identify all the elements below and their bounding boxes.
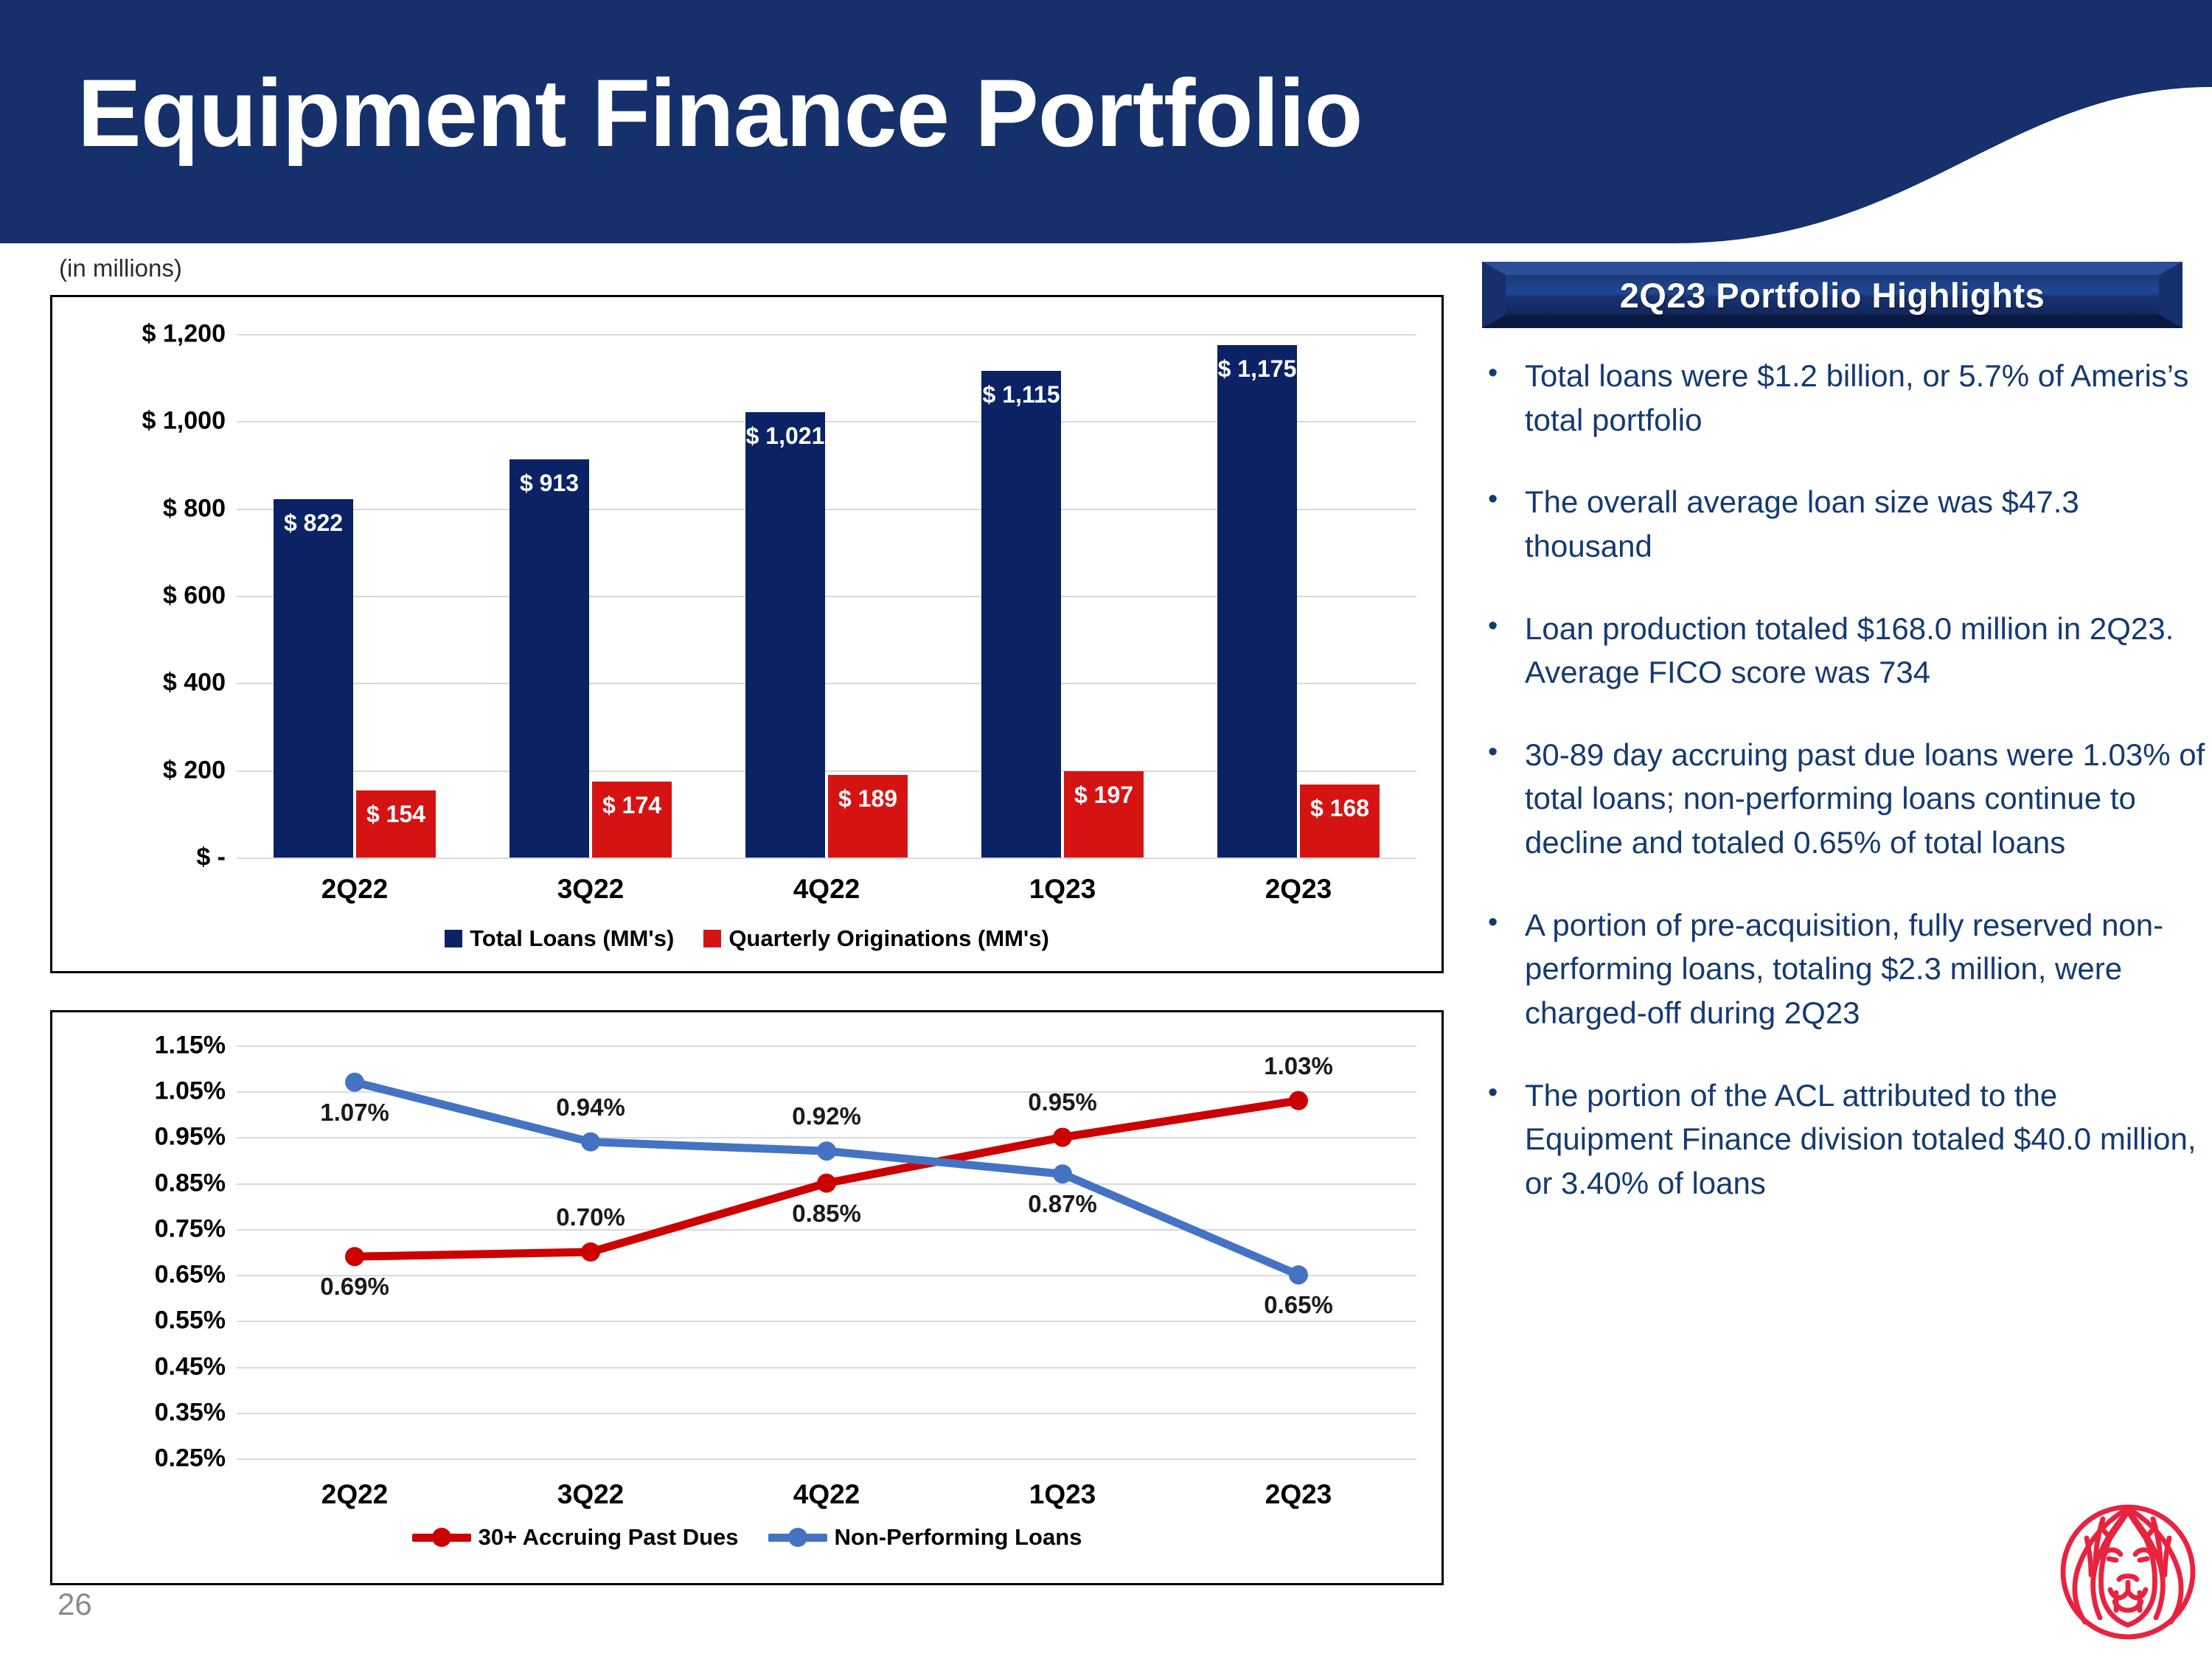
bar-value-label: $ 1,021 — [745, 422, 825, 450]
bullet-dot-icon: • — [1482, 1074, 1525, 1206]
page-number: 26 — [58, 1587, 92, 1622]
line-data-point — [345, 1247, 364, 1266]
line-chart: 0.25%0.35%0.45%0.55%0.65%0.75%0.85%0.95%… — [50, 1010, 1444, 1585]
bar-value-label: $ 174 — [592, 792, 672, 819]
line-chart-x-tick-label: 1Q23 — [1029, 1479, 1096, 1510]
slide-root: Equipment Finance Portfolio (in millions… — [0, 0, 2212, 1659]
bar-group: $ 1,175$ 1682Q23 — [1180, 334, 1416, 858]
bar-chart-y-tick-label: $ 200 — [0, 756, 226, 785]
highlight-bullet: •Total loans were $1.2 billion, or 5.7% … — [1482, 354, 2212, 442]
line-chart-y-tick-label: 1.15% — [0, 1032, 226, 1060]
bar-chart-legend: Total Loans (MM's)Quarterly Originations… — [52, 925, 1441, 952]
bar-quarterly-originations: $ 168 — [1300, 785, 1380, 858]
line-point-value-label: 0.94% — [556, 1093, 625, 1121]
bar-chart-y-tick-label: $ 800 — [0, 494, 226, 523]
line-point-value-label: 0.65% — [1264, 1291, 1333, 1319]
legend-swatch-icon — [445, 930, 462, 947]
bar-quarterly-originations: $ 154 — [356, 790, 436, 858]
bar-group: $ 1,115$ 1971Q23 — [945, 334, 1180, 858]
line-chart-y-tick-label: 0.35% — [0, 1398, 226, 1427]
bar-total-loans: $ 1,115 — [981, 371, 1061, 858]
bullet-dot-icon: • — [1482, 733, 1525, 865]
legend-label: Non-Performing Loans — [835, 1524, 1082, 1551]
line-chart-y-tick-label: 0.45% — [0, 1352, 226, 1381]
line-point-value-label: 0.87% — [1028, 1190, 1097, 1218]
line-data-point — [1053, 1127, 1072, 1147]
bar-value-label: $ 197 — [1064, 782, 1144, 809]
bar-chart-x-tick-label: 2Q22 — [237, 874, 473, 905]
line-point-value-label: 0.85% — [792, 1200, 861, 1228]
legend-label: Total Loans (MM's) — [470, 925, 674, 952]
bar-chart-y-tick-label: $ - — [0, 844, 226, 872]
bar-total-loans: $ 1,021 — [745, 412, 825, 858]
bar-chart: $ -$ 200$ 400$ 600$ 800$ 1,000$ 1,200$ 8… — [50, 295, 1444, 973]
bar-value-label: $ 1,175 — [1217, 355, 1297, 383]
highlight-bullet: •Loan production totaled $168.0 million … — [1482, 607, 2212, 695]
bar-chart-x-tick-label: 2Q23 — [1180, 874, 1416, 905]
line-data-point — [581, 1242, 600, 1262]
bar-value-label: $ 822 — [274, 509, 353, 537]
legend-swatch-icon — [703, 930, 721, 947]
ameris-lion-logo-icon — [2054, 1498, 2202, 1646]
bar-group: $ 913$ 1743Q22 — [473, 334, 709, 858]
line-data-point — [581, 1133, 600, 1152]
line-point-value-label: 0.70% — [556, 1203, 625, 1231]
line-point-value-label: 0.69% — [320, 1273, 389, 1301]
line-chart-y-tick-label: 0.85% — [0, 1169, 226, 1197]
line-chart-y-tick-label: 0.55% — [0, 1307, 226, 1335]
highlight-bullet: •A portion of pre-acquisition, fully res… — [1482, 903, 2212, 1035]
highlights-banner-title: 2Q23 Portfolio Highlights — [1482, 262, 2183, 328]
highlight-bullet-text: The overall average loan size was $47.3 … — [1525, 480, 2212, 568]
highlight-bullet: •The overall average loan size was $47.3… — [1482, 480, 2212, 568]
line-data-point — [345, 1073, 364, 1092]
legend-item[interactable]: 30+ Accruing Past Dues — [412, 1524, 739, 1551]
page-title: Equipment Finance Portfolio — [77, 58, 1362, 168]
bar-chart-x-tick-label: 1Q23 — [945, 874, 1180, 905]
highlight-bullet: •The portion of the ACL attributed to th… — [1482, 1074, 2212, 1206]
bar-chart-plot-area: $ -$ 200$ 400$ 600$ 800$ 1,000$ 1,200$ 8… — [237, 334, 1416, 858]
legend-item[interactable]: Quarterly Originations (MM's) — [703, 925, 1049, 952]
legend-item[interactable]: Total Loans (MM's) — [445, 925, 674, 952]
highlight-bullet-text: The portion of the ACL attributed to the… — [1525, 1074, 2212, 1206]
highlight-bullet-text: A portion of pre-acquisition, fully rese… — [1525, 903, 2212, 1035]
line-data-point — [817, 1141, 836, 1161]
line-point-value-label: 1.07% — [320, 1099, 389, 1127]
bar-value-label: $ 154 — [356, 801, 436, 828]
bar-chart-y-tick-label: $ 1,200 — [0, 320, 226, 349]
legend-label: 30+ Accruing Past Dues — [479, 1524, 739, 1551]
line-point-value-label: 0.92% — [792, 1102, 861, 1130]
bullet-dot-icon: • — [1482, 480, 1525, 568]
line-point-value-label: 1.03% — [1264, 1052, 1333, 1080]
bar-chart-y-tick-label: $ 600 — [0, 582, 226, 611]
bullet-dot-icon: • — [1482, 354, 1525, 442]
legend-line-swatch-icon — [412, 1534, 471, 1542]
units-note: (in millions) — [59, 254, 182, 282]
line-chart-gridline — [237, 1458, 1416, 1460]
legend-label: Quarterly Originations (MM's) — [728, 925, 1049, 952]
line-data-point — [817, 1174, 836, 1193]
line-chart-x-tick-label: 3Q22 — [557, 1479, 625, 1510]
line-chart-y-tick-label: 1.05% — [0, 1077, 226, 1106]
line-data-point — [1289, 1265, 1308, 1284]
highlight-bullet-text: Loan production totaled $168.0 million i… — [1525, 607, 2212, 695]
line-chart-y-tick-label: 0.75% — [0, 1214, 226, 1243]
highlights-banner: 2Q23 Portfolio Highlights — [1482, 262, 2183, 328]
bar-chart-gridline — [237, 858, 1416, 859]
bar-group: $ 822$ 1542Q22 — [237, 334, 473, 858]
bar-group: $ 1,021$ 1894Q22 — [709, 334, 945, 858]
slide-header-band: Equipment Finance Portfolio — [0, 0, 2212, 243]
legend-item[interactable]: Non-Performing Loans — [768, 1524, 1082, 1551]
line-chart-legend: 30+ Accruing Past DuesNon-Performing Loa… — [52, 1524, 1441, 1551]
legend-line-swatch-icon — [768, 1534, 827, 1542]
line-chart-x-tick-label: 4Q22 — [793, 1479, 860, 1510]
line-point-value-label: 0.95% — [1028, 1088, 1097, 1116]
highlights-bullet-list: •Total loans were $1.2 billion, or 5.7% … — [1482, 354, 2212, 1243]
line-chart-x-tick-label: 2Q22 — [321, 1479, 389, 1510]
bar-total-loans: $ 1,175 — [1217, 345, 1297, 858]
bar-chart-x-tick-label: 4Q22 — [709, 874, 945, 905]
line-chart-y-tick-label: 0.65% — [0, 1261, 226, 1290]
bar-quarterly-originations: $ 174 — [592, 782, 672, 858]
line-chart-y-tick-label: 0.95% — [0, 1123, 226, 1152]
bullet-dot-icon: • — [1482, 607, 1525, 695]
bar-chart-y-tick-label: $ 400 — [0, 669, 226, 698]
bar-value-label: $ 189 — [828, 785, 908, 813]
line-chart-x-tick-label: 2Q23 — [1265, 1479, 1332, 1510]
highlight-bullet: •30-89 day accruing past due loans were … — [1482, 733, 2212, 865]
line-chart-y-tick-label: 0.25% — [0, 1444, 226, 1473]
bar-total-loans: $ 822 — [274, 499, 353, 858]
bar-value-label: $ 913 — [509, 470, 589, 497]
bar-chart-y-tick-label: $ 1,000 — [0, 407, 226, 436]
bar-value-label: $ 168 — [1300, 795, 1380, 822]
bar-value-label: $ 1,115 — [981, 381, 1061, 408]
bar-chart-x-tick-label: 3Q22 — [473, 874, 709, 905]
bar-total-loans: $ 913 — [509, 459, 589, 858]
bar-quarterly-originations: $ 197 — [1064, 771, 1144, 858]
line-data-point — [1053, 1164, 1072, 1183]
line-data-point — [1289, 1091, 1308, 1110]
highlight-bullet-text: Total loans were $1.2 billion, or 5.7% o… — [1525, 354, 2212, 442]
bar-quarterly-originations: $ 189 — [828, 775, 908, 858]
bullet-dot-icon: • — [1482, 903, 1525, 1035]
highlight-bullet-text: 30-89 day accruing past due loans were 1… — [1525, 733, 2212, 865]
line-chart-plot-area: 0.25%0.35%0.45%0.55%0.65%0.75%0.85%0.95%… — [237, 1046, 1416, 1458]
